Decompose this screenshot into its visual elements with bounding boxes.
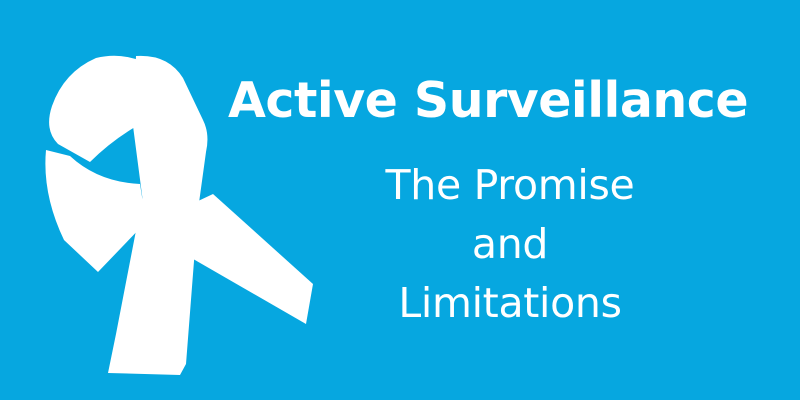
banner-text-block: Active Surveillance The Promise and Limi… bbox=[210, 60, 790, 350]
awareness-banner: Active Surveillance The Promise and Limi… bbox=[0, 0, 800, 400]
banner-subhead-line-1: The Promise bbox=[260, 156, 760, 215]
banner-subhead-line-2: and bbox=[260, 215, 760, 274]
banner-subhead-line-3: Limitations bbox=[260, 274, 760, 333]
banner-subhead: The Promise and Limitations bbox=[260, 156, 760, 333]
banner-headline: Active Surveillance bbox=[228, 72, 748, 130]
